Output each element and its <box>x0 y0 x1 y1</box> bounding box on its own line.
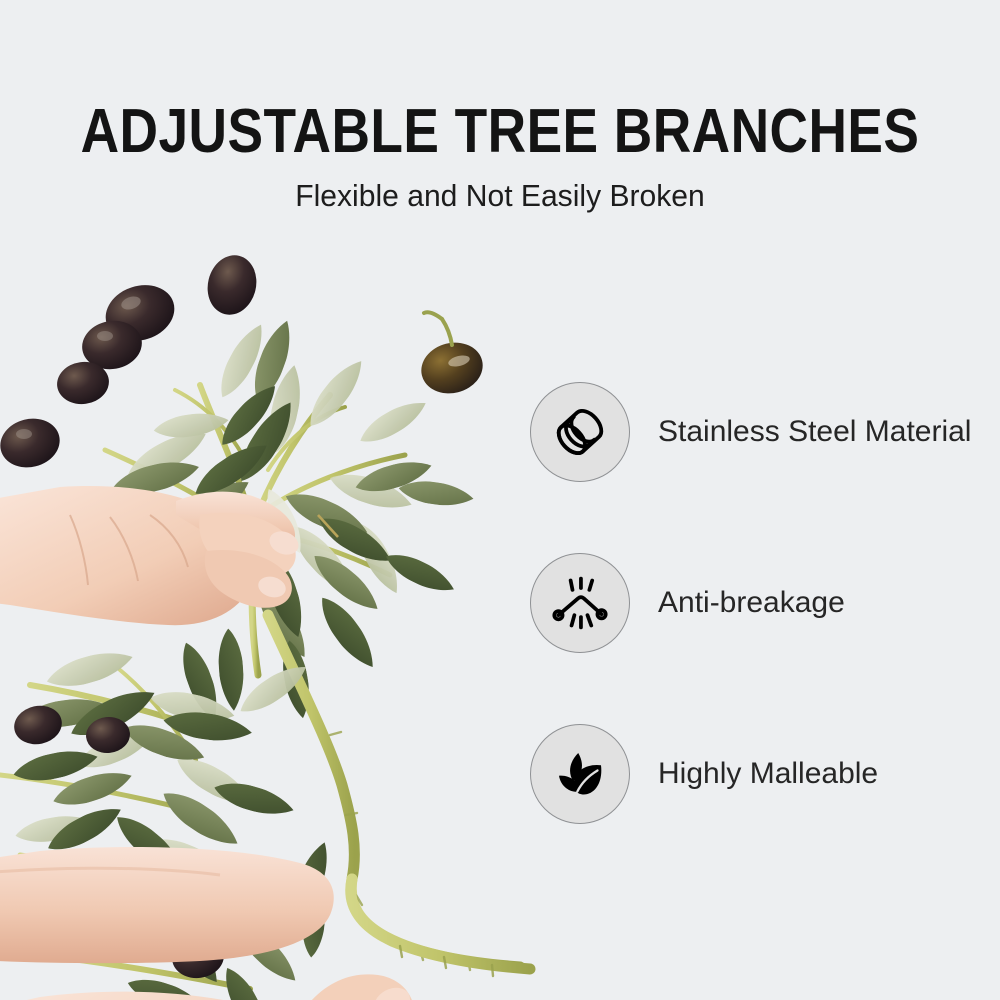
steel-rod-icon <box>530 382 630 482</box>
forearm <box>0 847 334 963</box>
bending-rod-impact-icon-svg <box>550 573 610 633</box>
page-subtitle: Flexible and Not Easily Broken <box>15 178 985 214</box>
feature-label-anti-breakage: Anti-breakage <box>658 586 845 620</box>
feature-label-highly-malleable: Highly Malleable <box>658 757 878 791</box>
feature-label-stainless-steel: Stainless Steel Material <box>658 415 971 449</box>
product-photo <box>0 215 560 1000</box>
bending-rod-impact-icon <box>530 553 630 653</box>
feature-item-anti-breakage: Anti-breakage <box>530 553 1000 653</box>
steel-rod-icon-svg <box>551 403 609 461</box>
feature-item-highly-malleable: Highly Malleable <box>530 724 1000 824</box>
product-feature-image: ADJUSTABLE TREE BRANCHES Flexible and No… <box>0 0 1000 1000</box>
olive-branch-photo-svg <box>0 215 560 1000</box>
leaves-icon <box>530 724 630 824</box>
heading-block: ADJUSTABLE TREE BRANCHES Flexible and No… <box>0 100 1000 214</box>
feature-list: Stainless Steel Material <box>530 382 1000 824</box>
upper-hand <box>0 486 302 625</box>
page-title: ADJUSTABLE TREE BRANCHES <box>70 100 930 164</box>
feature-item-stainless-steel: Stainless Steel Material <box>530 382 1000 482</box>
leaves-icon-svg <box>552 746 608 802</box>
